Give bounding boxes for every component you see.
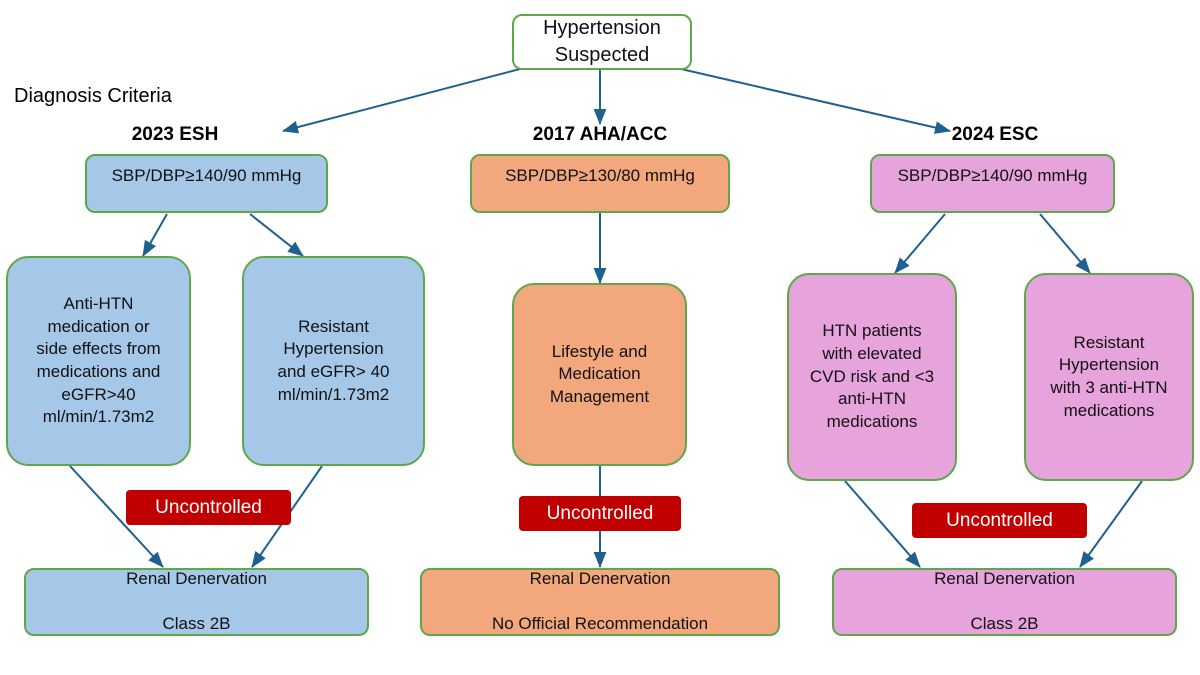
edge-esc-criteria-to-detail1	[895, 214, 945, 273]
detail-node-esh-2[interactable]: Resistant Hypertension and eGFR> 40 ml/m…	[242, 256, 425, 466]
flowchart-canvas: Hypertension Suspected Diagnosis Criteri…	[0, 0, 1200, 675]
section-label-diagnosis-criteria: Diagnosis Criteria	[14, 85, 172, 108]
edge-esc-criteria-to-detail2	[1040, 214, 1090, 273]
detail-node-esc-1[interactable]: HTN patients with elevated CVD risk and …	[787, 273, 957, 481]
outcome-node-esh[interactable]: Renal Denervation Class 2B	[24, 568, 369, 636]
detail-node-esc-2[interactable]: Resistant Hypertension with 3 anti-HTN m…	[1024, 273, 1194, 481]
status-badge-esh-uncontrolled: Uncontrolled	[126, 490, 291, 525]
criteria-node-esh[interactable]: SBP/DBP≥140/90 mmHg	[85, 154, 328, 213]
column-header-aha-acc: 2017 AHA/ACC	[500, 124, 700, 146]
status-badge-esc-uncontrolled: Uncontrolled	[912, 503, 1087, 538]
outcome-node-esc[interactable]: Renal Denervation Class 2B	[832, 568, 1177, 636]
edge-esh-criteria-to-detail2	[250, 214, 303, 256]
detail-node-aha-acc-1[interactable]: Lifestyle and Medication Management	[512, 283, 687, 466]
edge-esh-criteria-to-detail1	[143, 214, 167, 256]
column-header-esh: 2023 ESH	[85, 124, 265, 146]
edge-esc-detail2-to-outcome	[1080, 481, 1142, 567]
outcome-node-aha-acc[interactable]: Renal Denervation No Official Recommenda…	[420, 568, 780, 636]
detail-node-esh-1[interactable]: Anti-HTN medication or side effects from…	[6, 256, 191, 466]
criteria-node-esc[interactable]: SBP/DBP≥140/90 mmHg	[870, 154, 1115, 213]
criteria-node-aha-acc[interactable]: SBP/DBP≥130/80 mmHg	[470, 154, 730, 213]
status-badge-aha-acc-uncontrolled: Uncontrolled	[519, 496, 681, 531]
edge-esc-detail1-to-outcome	[845, 481, 920, 567]
column-header-esc: 2024 ESC	[905, 124, 1085, 146]
edge-root-to-esh	[283, 69, 520, 131]
root-node-hypertension-suspected[interactable]: Hypertension Suspected	[512, 14, 692, 70]
edge-root-to-esc	[681, 69, 950, 131]
